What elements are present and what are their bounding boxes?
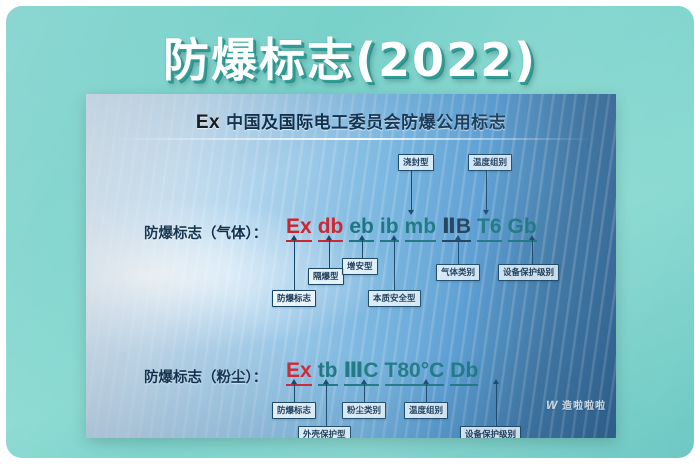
lead-gas-group bbox=[458, 240, 459, 264]
motion-streaks bbox=[86, 94, 616, 438]
dust-token-temp: T80°C bbox=[385, 359, 445, 386]
lead-enclosure bbox=[326, 384, 327, 426]
callout-ex-mark-dust: 防爆标志 bbox=[272, 402, 316, 419]
callout-encapsulation: 浇封型 bbox=[398, 154, 434, 171]
gas-code-line: ExdbebibmbⅡBT6Gb bbox=[286, 214, 543, 242]
lead-temp-class-gas bbox=[486, 170, 487, 210]
lead-epl-dust bbox=[496, 384, 497, 426]
page-title: 防爆标志(2022) bbox=[6, 24, 694, 90]
callout-temp-class-dust: 温度组别 bbox=[404, 402, 448, 419]
callout-epl-gas: 设备保护级别 bbox=[498, 264, 559, 281]
diagram-panel: Ex中国及国际电工委员会防爆公用标志 防爆标志（气体）： ExdbebibmbⅡ… bbox=[86, 94, 616, 438]
watermark-text: 造啦啦啦 bbox=[562, 401, 606, 412]
panel-header: Ex中国及国际电工委员会防爆公用标志 bbox=[108, 108, 594, 134]
dust-token-tb: tb bbox=[318, 359, 338, 386]
watermark-logo-icon: W bbox=[544, 398, 559, 412]
header-text: 中国及国际电工委员会防爆公用标志 bbox=[226, 113, 506, 132]
gas-token-epl: Gb bbox=[508, 215, 537, 242]
gas-token-db: db bbox=[318, 215, 344, 242]
callout-ex-mark-gas: 防爆标志 bbox=[272, 290, 316, 307]
poster-card: 防爆标志(2022) Ex中国及国际电工委员会防爆公用标志 防爆标志（气体）： … bbox=[6, 6, 694, 458]
gas-token-mb: mb bbox=[405, 215, 437, 242]
header-ex-label: Ex bbox=[196, 112, 220, 133]
callout-intrinsic-safety: 本质安全型 bbox=[368, 290, 421, 307]
header-divider bbox=[110, 138, 592, 140]
lead-flameproof bbox=[329, 240, 330, 268]
lead-epl-gas bbox=[532, 240, 533, 264]
callout-increased-safety: 增安型 bbox=[342, 258, 378, 275]
lead-increased-safety bbox=[362, 240, 363, 258]
lead-intrinsic-safety bbox=[394, 240, 395, 290]
dust-token-group: ⅢC bbox=[344, 358, 379, 386]
callout-temp-class-gas: 温度组别 bbox=[468, 154, 512, 171]
lead-temp-class-dust bbox=[426, 384, 427, 402]
screenshot-root: 防爆标志(2022) Ex中国及国际电工委员会防爆公用标志 防爆标志（气体）： … bbox=[0, 0, 700, 464]
lead-ex-mark-gas bbox=[294, 240, 295, 290]
gas-token-eb: eb bbox=[349, 215, 374, 242]
watermark: W造啦啦啦 bbox=[546, 397, 606, 412]
lead-ex-mark-dust bbox=[294, 384, 295, 402]
callout-dust-group: 粉尘类别 bbox=[342, 402, 386, 419]
light-glow bbox=[86, 197, 404, 355]
vignette bbox=[86, 94, 616, 438]
gas-token-ib: ib bbox=[380, 215, 399, 242]
gas-token-ex: Ex bbox=[286, 215, 312, 242]
callout-flameproof: 隔爆型 bbox=[308, 268, 344, 285]
lead-encapsulation bbox=[411, 170, 412, 210]
callout-enclosure: 外壳保护型 bbox=[298, 426, 351, 438]
callout-epl-dust: 设备保护级别 bbox=[460, 426, 521, 438]
dust-row-label: 防爆标志（粉尘）： bbox=[144, 366, 267, 387]
dust-token-epl: Db bbox=[450, 359, 478, 386]
dust-code-line: ExtbⅢCT80°CDb bbox=[286, 358, 484, 386]
lead-dust-group bbox=[364, 384, 365, 402]
dust-token-ex: Ex bbox=[286, 359, 312, 386]
callout-gas-group: 气体类别 bbox=[436, 264, 480, 281]
gas-token-group: ⅡB bbox=[442, 214, 471, 242]
gas-token-temp: T6 bbox=[477, 215, 502, 242]
gas-row-label: 防爆标志（气体）： bbox=[144, 222, 267, 243]
